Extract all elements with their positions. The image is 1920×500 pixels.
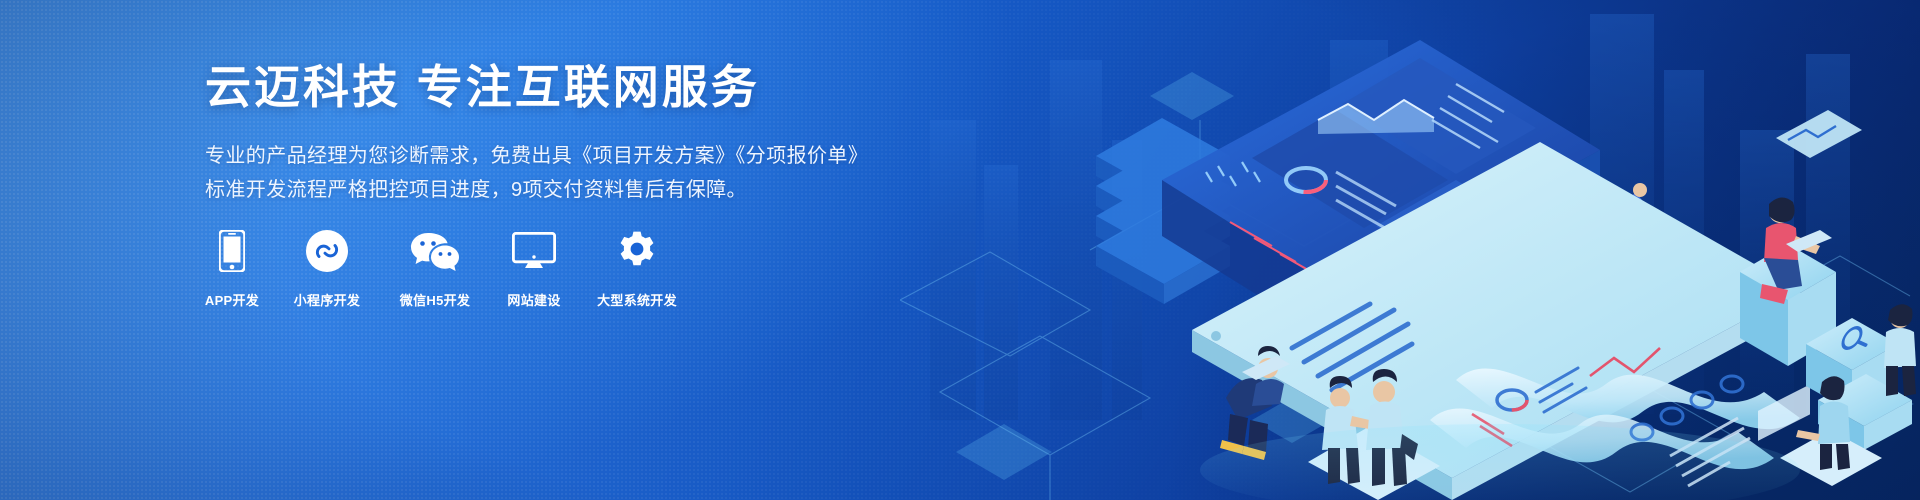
service-item-app[interactable]: APP开发 xyxy=(200,228,264,309)
service-item-website[interactable]: 网站建设 xyxy=(500,228,568,309)
mini-program-icon xyxy=(306,228,348,274)
person-walking-right xyxy=(1884,304,1916,396)
service-label-wechat: 微信H5开发 xyxy=(400,290,470,309)
subtitle-line-1: 专业的产品经理为您诊断需求，免费出具《项目开发方案》《分项报价单》 xyxy=(205,140,905,172)
hero-illustration xyxy=(900,0,1920,500)
gear-icon xyxy=(616,228,658,274)
service-item-system[interactable]: 大型系统开发 xyxy=(588,228,686,309)
service-label-app: APP开发 xyxy=(205,290,259,309)
monitor-icon xyxy=(512,228,556,274)
subtitle-line-2: 标准开发流程严格把控项目进度，9项交付资料售后有保障。 xyxy=(205,174,905,206)
service-label-system: 大型系统开发 xyxy=(597,290,677,309)
hero-banner: 云迈科技 专注互联网服务 专业的产品经理为您诊断需求，免费出具《项目开发方案》《… xyxy=(0,0,1920,500)
service-item-wechat[interactable]: 微信H5开发 xyxy=(390,228,480,309)
wechat-icon xyxy=(410,228,460,274)
mobile-phone-icon xyxy=(219,228,245,274)
service-label-website: 网站建设 xyxy=(507,290,560,309)
hero-copy: 云迈科技 专注互联网服务 专业的产品经理为您诊断需求，免费出具《项目开发方案》《… xyxy=(205,62,905,206)
service-list: APP开发 小程序开发 xyxy=(200,228,686,309)
page-title: 云迈科技 专注互联网服务 xyxy=(205,62,905,114)
service-label-mini-program: 小程序开发 xyxy=(294,290,361,309)
service-item-mini-program[interactable]: 小程序开发 xyxy=(284,228,370,309)
